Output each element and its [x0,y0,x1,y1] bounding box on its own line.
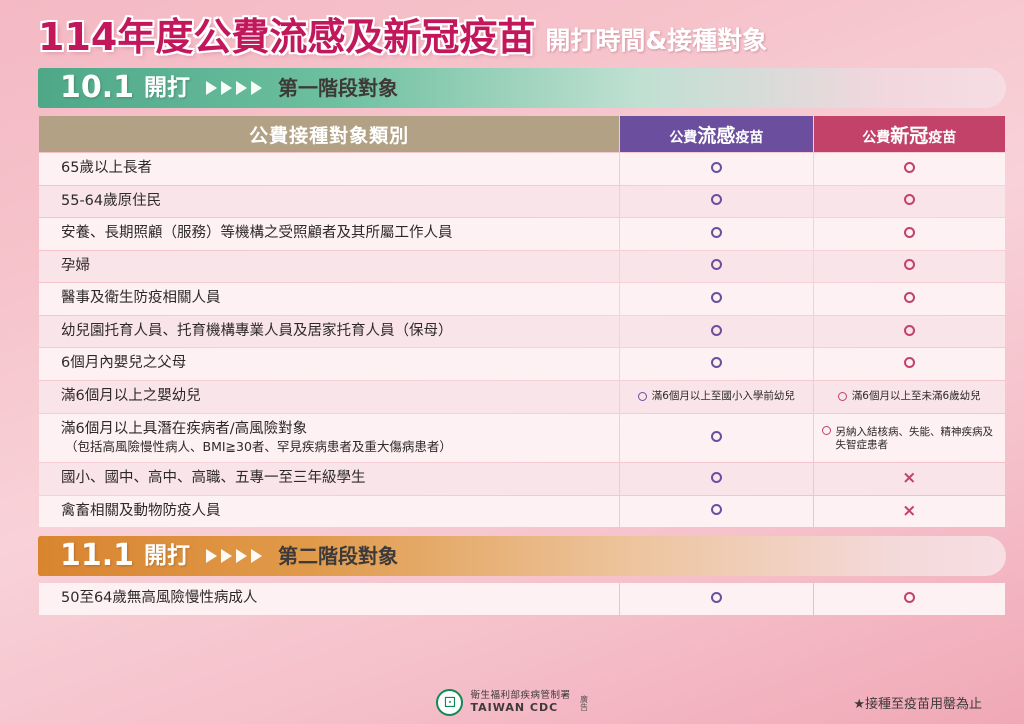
table-row: 安養、長期照顧（服務）等機構之受照顧者及其所屬工作人員 [39,218,1005,250]
table-row: 滿6個月以上之嬰幼兒滿6個月以上至國小入學前幼兒滿6個月以上至未滿6歲幼兒 [39,381,1005,413]
category-label: 國小、國中、高中、高職、五專一至三年級學生 [61,470,366,486]
category-cell: 安養、長期照顧（服務）等機構之受照顧者及其所屬工作人員 [39,218,619,250]
circle-icon [711,292,722,303]
covid-eligible-ring-icon [814,348,1006,380]
category-label: 安養、長期照顧（服務）等機構之受照顧者及其所屬工作人員 [61,225,453,241]
covid-not-eligible-cross-icon: × [814,463,1006,495]
note-label: 滿6個月以上至未滿6歲幼兒 [852,390,981,403]
category-label: 55-64歲原住民 [61,193,161,209]
circle-icon [904,292,915,303]
circle-icon [638,392,647,401]
header: 114年度公費流感及新冠疫苗 開打時間&接種對象 [24,0,1000,62]
stage2-open-label: 開打 [144,545,190,568]
circle-icon [711,325,722,336]
flu-eligible-ring-icon [620,153,812,185]
stage1-table: 公費接種對象類別 公費流感疫苗 公費新冠疫苗 65歲以上長者55-64歲原住民安… [38,115,1006,528]
covid-eligible-ring-icon [814,186,1006,218]
stage1-banner: 10.1 開打 第一階段對象 [38,68,1006,108]
circle-icon [711,162,722,173]
logo-agency-name-zh: 衛生福利部疾病管制署 [470,691,570,702]
category-sublabel: （包括高風險慢性病人、BMI≧30者、罕見疾病患者及重大傷病患者） [61,439,609,456]
stage1-open-label: 開打 [144,77,190,100]
note-text: 滿6個月以上至國小入學前幼兒 [638,390,795,403]
covid-eligible-ring-icon [814,153,1006,185]
flu-suffix: 疫苗 [735,130,763,146]
column-header-flu-vaccine: 公費流感疫苗 [620,116,812,152]
circle-icon [904,357,915,368]
category-cell: 國小、國中、高中、高職、五專一至三年級學生 [39,463,619,495]
category-cell: 55-64歲原住民 [39,186,619,218]
circle-icon [904,325,915,336]
note-label: 另納入結核病、失能、精神疾病及失智症患者 [836,426,998,452]
table-row: 6個月內嬰兒之父母 [39,348,1005,380]
table-row: 55-64歲原住民 [39,186,1005,218]
circle-icon [711,504,722,515]
category-cell: 6個月內嬰兒之父母 [39,348,619,380]
covid-eligible-ring-icon [814,283,1006,315]
cross-icon: × [902,503,916,520]
covid-eligible-ring-icon [814,583,1005,615]
flu-eligible-ring-icon [620,496,812,528]
covid-eligible-ring-icon [814,251,1006,283]
covid-eligibility-note: 另納入結核病、失能、精神疾病及失智症患者 [814,414,1006,462]
category-cell: 幼兒園托育人員、托育機構專業人員及居家托育人員（保母） [39,316,619,348]
category-label: 6個月內嬰兒之父母 [61,355,186,371]
page-title: 114年度公費流感及新冠疫苗 [38,18,535,56]
circle-icon [711,592,722,603]
flu-big: 流感 [697,125,735,147]
category-cell: 65歲以上長者 [39,153,619,185]
flu-eligible-ring-icon [620,463,812,495]
cross-icon: × [902,470,916,487]
category-cell: 滿6個月以上之嬰幼兒 [39,381,619,413]
table-row: 禽畜相關及動物防疫人員× [39,496,1005,528]
flu-eligible-ring-icon [620,414,812,462]
table-row: 孕婦 [39,251,1005,283]
circle-icon [711,472,722,483]
flu-eligible-ring-icon [620,283,812,315]
category-label: 禽畜相關及動物防疫人員 [61,503,221,519]
stage1-rows: 65歲以上長者55-64歲原住民安養、長期照顧（服務）等機構之受照顧者及其所屬工… [39,153,1005,527]
cdc-emblem-icon: ⚀ [436,689,463,716]
circle-icon [904,162,915,173]
arrow-right-icon-group [206,81,262,95]
circle-icon [711,431,722,442]
table-row: 65歲以上長者 [39,153,1005,185]
stage2-label: 第二階段對象 [278,546,398,566]
category-label: 65歲以上長者 [61,160,152,176]
flu-eligible-ring-icon [620,218,812,250]
cov-prefix: 公費 [862,130,890,146]
cov-big: 新冠 [890,125,928,147]
flu-eligible-ring-icon [620,186,812,218]
circle-icon [822,426,831,435]
covid-eligible-ring-icon [814,218,1006,250]
note-text: 滿6個月以上至未滿6歲幼兒 [838,390,981,403]
circle-icon [711,357,722,368]
circle-icon [904,259,915,270]
note-text: 另納入結核病、失能、精神疾病及失智症患者 [814,426,1006,452]
category-label: 孕婦 [61,258,90,274]
category-cell: 50至64歲無高風險慢性病成人 [39,583,619,615]
table-row: 幼兒園托育人員、托育機構專業人員及居家托育人員（保母） [39,316,1005,348]
category-cell: 滿6個月以上具潛在疾病者/高風險對象（包括高風險慢性病人、BMI≧30者、罕見疾… [39,414,619,462]
covid-eligibility-note: 滿6個月以上至未滿6歲幼兒 [814,381,1006,413]
category-label: 滿6個月以上具潛在疾病者/高風險對象 [61,421,307,437]
logo-agency-name-en: TAIWAN CDC [470,702,570,715]
flu-eligible-ring-icon [620,348,812,380]
column-header-category: 公費接種對象類別 [39,116,619,152]
stage2-table: 50至64歲無高風險慢性病成人 [38,582,1006,616]
footnote: ★接種至疫苗用罄為止 [853,693,982,712]
poster-page: 114年度公費流感及新冠疫苗 開打時間&接種對象 10.1 開打 第一階段對象 … [0,0,1024,724]
category-label: 幼兒園托育人員、托育機構專業人員及居家托育人員（保母） [61,323,453,339]
covid-not-eligible-cross-icon: × [814,496,1006,528]
flu-eligible-ring-icon [620,316,812,348]
cov-suffix: 疫苗 [928,130,956,146]
stage1-date: 10.1 [60,73,134,103]
column-header-covid-vaccine: 公費新冠疫苗 [814,116,1006,152]
flu-eligible-ring-icon [620,583,812,615]
category-label: 醫事及衛生防疫相關人員 [61,290,221,306]
circle-icon [904,592,915,603]
flu-prefix: 公費 [669,130,697,146]
circle-icon [904,194,915,205]
category-label: 滿6個月以上之嬰幼兒 [61,388,201,404]
category-cell: 孕婦 [39,251,619,283]
category-cell: 禽畜相關及動物防疫人員 [39,496,619,528]
circle-icon [904,227,915,238]
stage2-banner: 11.1 開打 第二階段對象 [38,536,1006,576]
stage1-label: 第一階段對象 [278,78,398,98]
category-cell: 醫事及衛生防疫相關人員 [39,283,619,315]
covid-eligible-ring-icon [814,316,1006,348]
table-row: 國小、國中、高中、高職、五專一至三年級學生× [39,463,1005,495]
flu-eligibility-note: 滿6個月以上至國小入學前幼兒 [620,381,812,413]
table-row: 滿6個月以上具潛在疾病者/高風險對象（包括高風險慢性病人、BMI≧30者、罕見疾… [39,414,1005,462]
stage2-rows: 50至64歲無高風險慢性病成人 [39,583,1005,615]
flu-eligible-ring-icon [620,251,812,283]
circle-icon [711,227,722,238]
category-label: 50至64歲無高風險慢性病成人 [61,590,257,606]
advertisement-mark: 廣告 [580,695,588,711]
table-row: 醫事及衛生防疫相關人員 [39,283,1005,315]
note-label: 滿6個月以上至國小入學前幼兒 [652,390,795,403]
arrow-right-icon-group [206,549,262,563]
table-row: 50至64歲無高風險慢性病成人 [39,583,1005,615]
circle-icon [711,194,722,205]
cdc-logo: ⚀ 衛生福利部疾病管制署 TAIWAN CDC 廣告 [436,689,587,716]
page-subtitle: 開打時間&接種對象 [545,28,767,56]
circle-icon [711,259,722,270]
circle-icon [838,392,847,401]
stage2-date: 11.1 [60,541,134,571]
table-header-row: 公費接種對象類別 公費流感疫苗 公費新冠疫苗 [39,116,1005,152]
